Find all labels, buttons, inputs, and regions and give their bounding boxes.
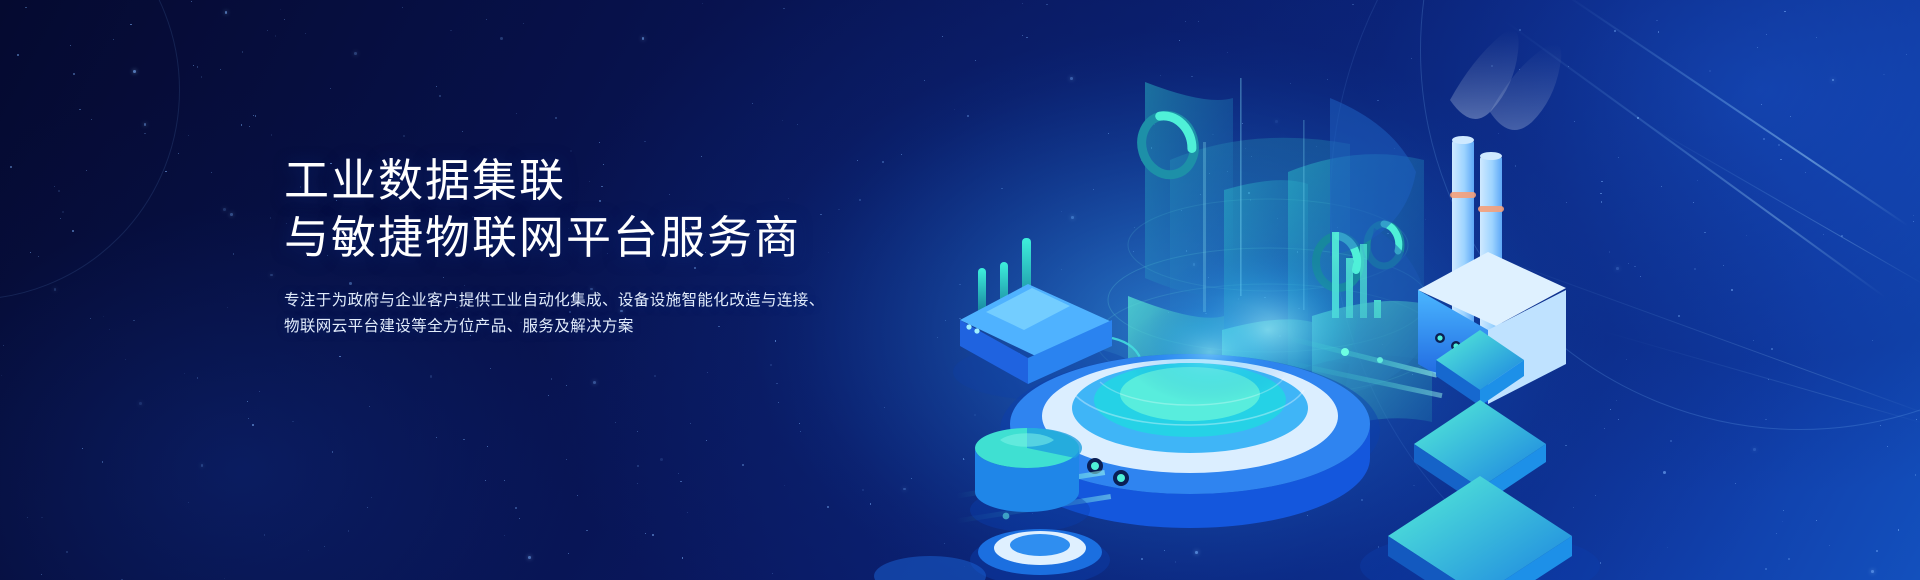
router-right-face	[1028, 320, 1112, 384]
data-beams-left	[956, 470, 1111, 523]
ring-chart-pair-icon	[1316, 224, 1401, 288]
chimney-1-band	[1450, 192, 1476, 198]
subtitle-line-1: 专注于为政府与企业客户提供工业自动化集成、设备设施智能化改造与连接、	[284, 288, 844, 314]
headline-line-1: 工业数据集联	[284, 152, 844, 209]
hero-banner: 工业数据集联 与敏捷物联网平台服务商 专注于为政府与企业客户提供工业自动化集成、…	[0, 0, 1920, 580]
headline-line-2: 与敏捷物联网平台服务商	[284, 209, 844, 266]
panel-right	[1288, 154, 1424, 374]
bar-chart-icon	[1332, 232, 1381, 318]
router-antenna-2	[1000, 262, 1008, 314]
smoke-plume-2	[1490, 44, 1561, 130]
ring-base-white	[994, 531, 1086, 565]
cylinder-top	[975, 428, 1079, 468]
chimney-2-band	[1478, 206, 1504, 212]
smoke-plume-1	[1450, 30, 1519, 119]
panel-center	[1224, 180, 1308, 400]
platform-outer-side	[1010, 424, 1370, 528]
router-top	[960, 284, 1112, 360]
pyramid-tier-2-right	[1480, 444, 1546, 506]
cylinder-side	[975, 448, 1079, 512]
pyramid-tier-1-right	[1480, 360, 1524, 406]
ring-base	[970, 529, 1110, 580]
factory-smokestacks	[1418, 30, 1566, 404]
hero-text-block: 工业数据集联 与敏捷物联网平台服务商 专注于为政府与企业客户提供工业自动化集成、…	[284, 152, 844, 340]
pyramid-tier-3	[1388, 476, 1572, 580]
small-platform	[874, 556, 986, 580]
ring-chart-icon	[1135, 109, 1202, 181]
panel-blade-lower	[1344, 228, 1430, 394]
chimney-1	[1452, 140, 1474, 366]
wifi-router	[953, 238, 1137, 400]
subtitle-line-2: 物联网云平台建设等全方位产品、服务及解决方案	[284, 314, 844, 340]
router-led-strip	[986, 288, 1070, 330]
ring-base-outer	[978, 529, 1102, 575]
scene-glow	[750, 30, 1610, 580]
router-cable	[1097, 338, 1143, 472]
panel-left	[1145, 82, 1233, 296]
panel-blade-upper	[1330, 98, 1416, 256]
chimney-2	[1480, 156, 1502, 368]
pyramid-tier-2-left	[1414, 444, 1480, 506]
data-beams-right	[1285, 336, 1443, 398]
platform-ring-cyan	[1094, 363, 1286, 437]
data-tower-panels	[1096, 78, 1440, 444]
pyramid-tier-2	[1414, 400, 1546, 488]
factory-top	[1418, 252, 1566, 326]
central-platform	[1000, 300, 1380, 528]
platform-ring-blue	[1072, 363, 1308, 453]
factory-left-face	[1418, 290, 1488, 404]
ring-base-inner	[1010, 534, 1070, 556]
platform-core	[1120, 367, 1260, 421]
platform-ring-white	[1042, 359, 1338, 473]
platform-outer-top	[1010, 354, 1370, 494]
tower-core-glow	[1148, 240, 1388, 420]
router-left-face	[960, 320, 1028, 384]
pyramid-tier-1-left	[1436, 360, 1480, 406]
cylinder-slice	[1027, 428, 1082, 458]
router-antenna-3	[978, 268, 986, 314]
pyramid-tier-3-left	[1388, 536, 1480, 580]
factory-right-face	[1488, 290, 1566, 404]
pyramid-tier-1	[1436, 330, 1524, 390]
pyramid-tier-3-right	[1480, 536, 1572, 580]
pyramid-stack	[1360, 330, 1600, 580]
cylinder-database	[970, 428, 1090, 532]
router-antenna-1	[1022, 238, 1031, 312]
